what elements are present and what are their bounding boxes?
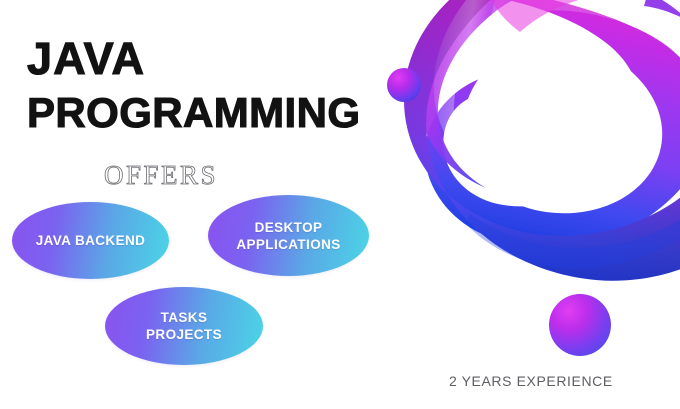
section-label-offers: OFFERS xyxy=(104,160,218,190)
experience-note: 2 YEARS EXPERIENCE xyxy=(449,373,613,389)
headline-line-1: JAVA xyxy=(27,32,427,86)
offer-oval-label: TASKS PROJECTS xyxy=(146,309,222,343)
headline-line-2: PROGRAMMING xyxy=(27,86,427,140)
ribbon-blob-shape xyxy=(404,0,680,305)
offer-oval-label: DESKTOP APPLICATIONS xyxy=(236,219,340,253)
large-gradient-sphere xyxy=(549,294,611,356)
offer-oval-tasks-projects[interactable]: TASKS PROJECTS xyxy=(105,287,263,365)
poster-canvas: JAVA PROGRAMMING OFFERS JAVA BACKEND DES… xyxy=(0,0,680,409)
offers-text: OFFERS xyxy=(104,160,218,190)
offer-oval-java-backend[interactable]: JAVA BACKEND xyxy=(12,202,169,279)
offer-oval-label: JAVA BACKEND xyxy=(36,232,146,249)
page-title: JAVA PROGRAMMING xyxy=(27,32,427,140)
offer-oval-desktop-applications[interactable]: DESKTOP APPLICATIONS xyxy=(208,195,369,276)
